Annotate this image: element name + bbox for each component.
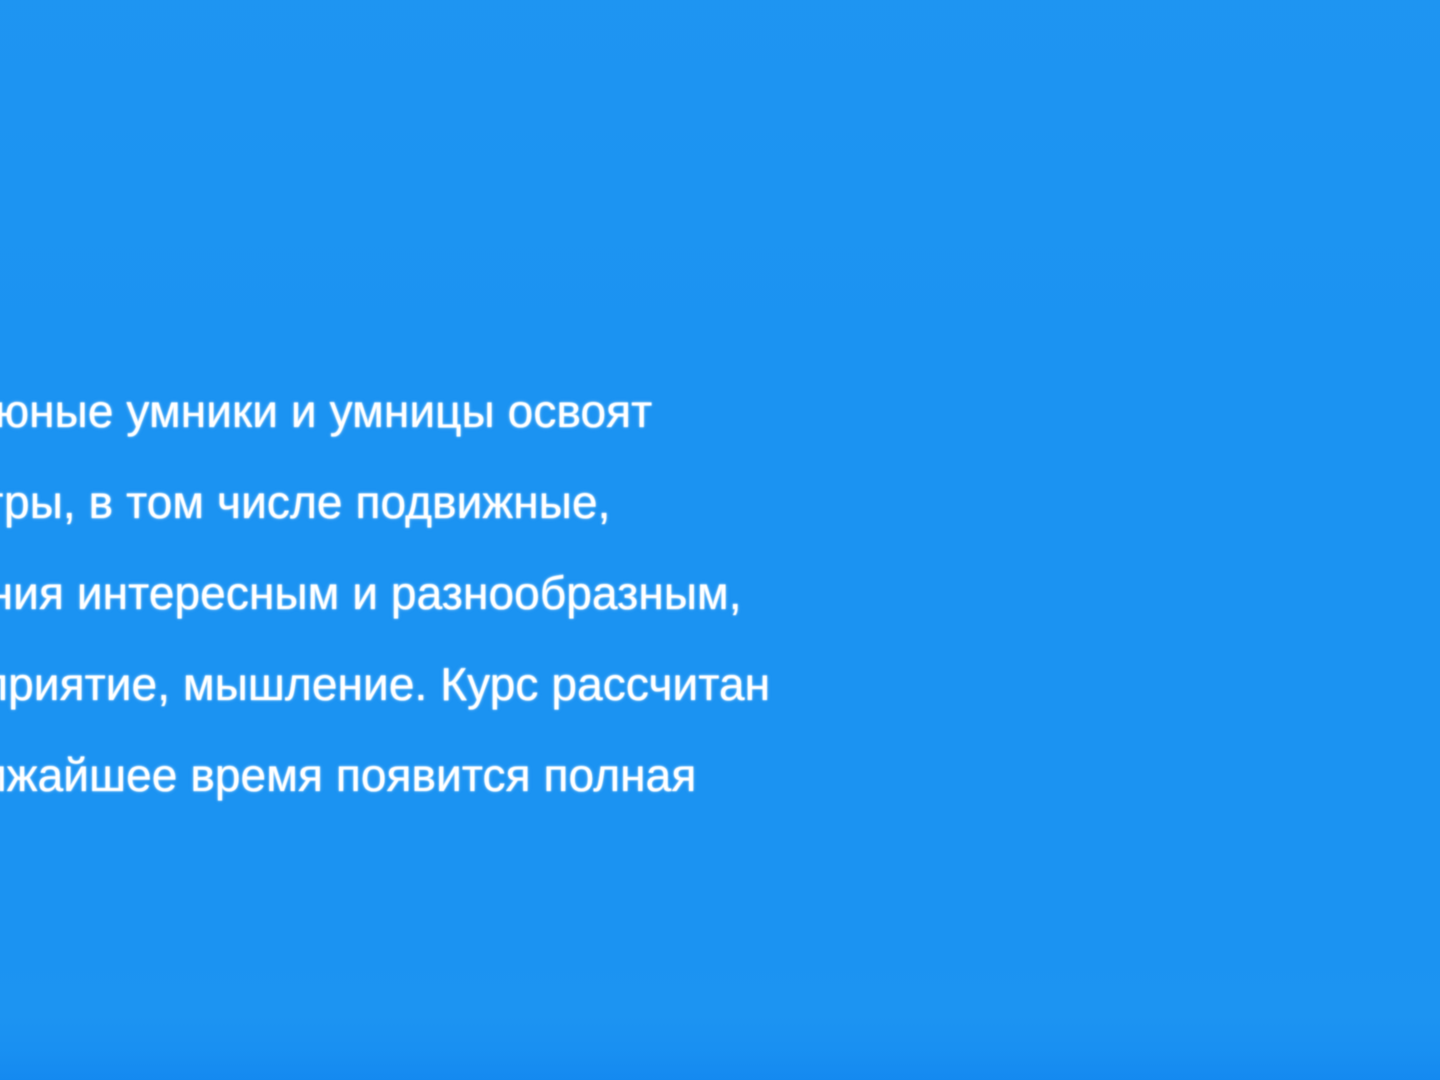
paragraph-line-2: Игры, в том числе подвижные, bbox=[0, 457, 1050, 548]
screenshot-canvas: е юные умники и умницы освоят Игры, в то… bbox=[0, 0, 1440, 1080]
promo-paragraph: е юные умники и умницы освоят Игры, в то… bbox=[0, 366, 1050, 821]
paragraph-line-5: лижайшее время появится полная bbox=[0, 730, 1050, 821]
background-top-sheen bbox=[0, 0, 1440, 340]
paragraph-line-4: сприятие, мышление. Курс рассчитан bbox=[0, 639, 1050, 730]
background-bottom-band bbox=[0, 960, 1440, 1080]
paragraph-line-3: ения интересным и разнообразным, bbox=[0, 548, 1050, 639]
paragraph-line-1: е юные умники и умницы освоят bbox=[0, 366, 1050, 457]
